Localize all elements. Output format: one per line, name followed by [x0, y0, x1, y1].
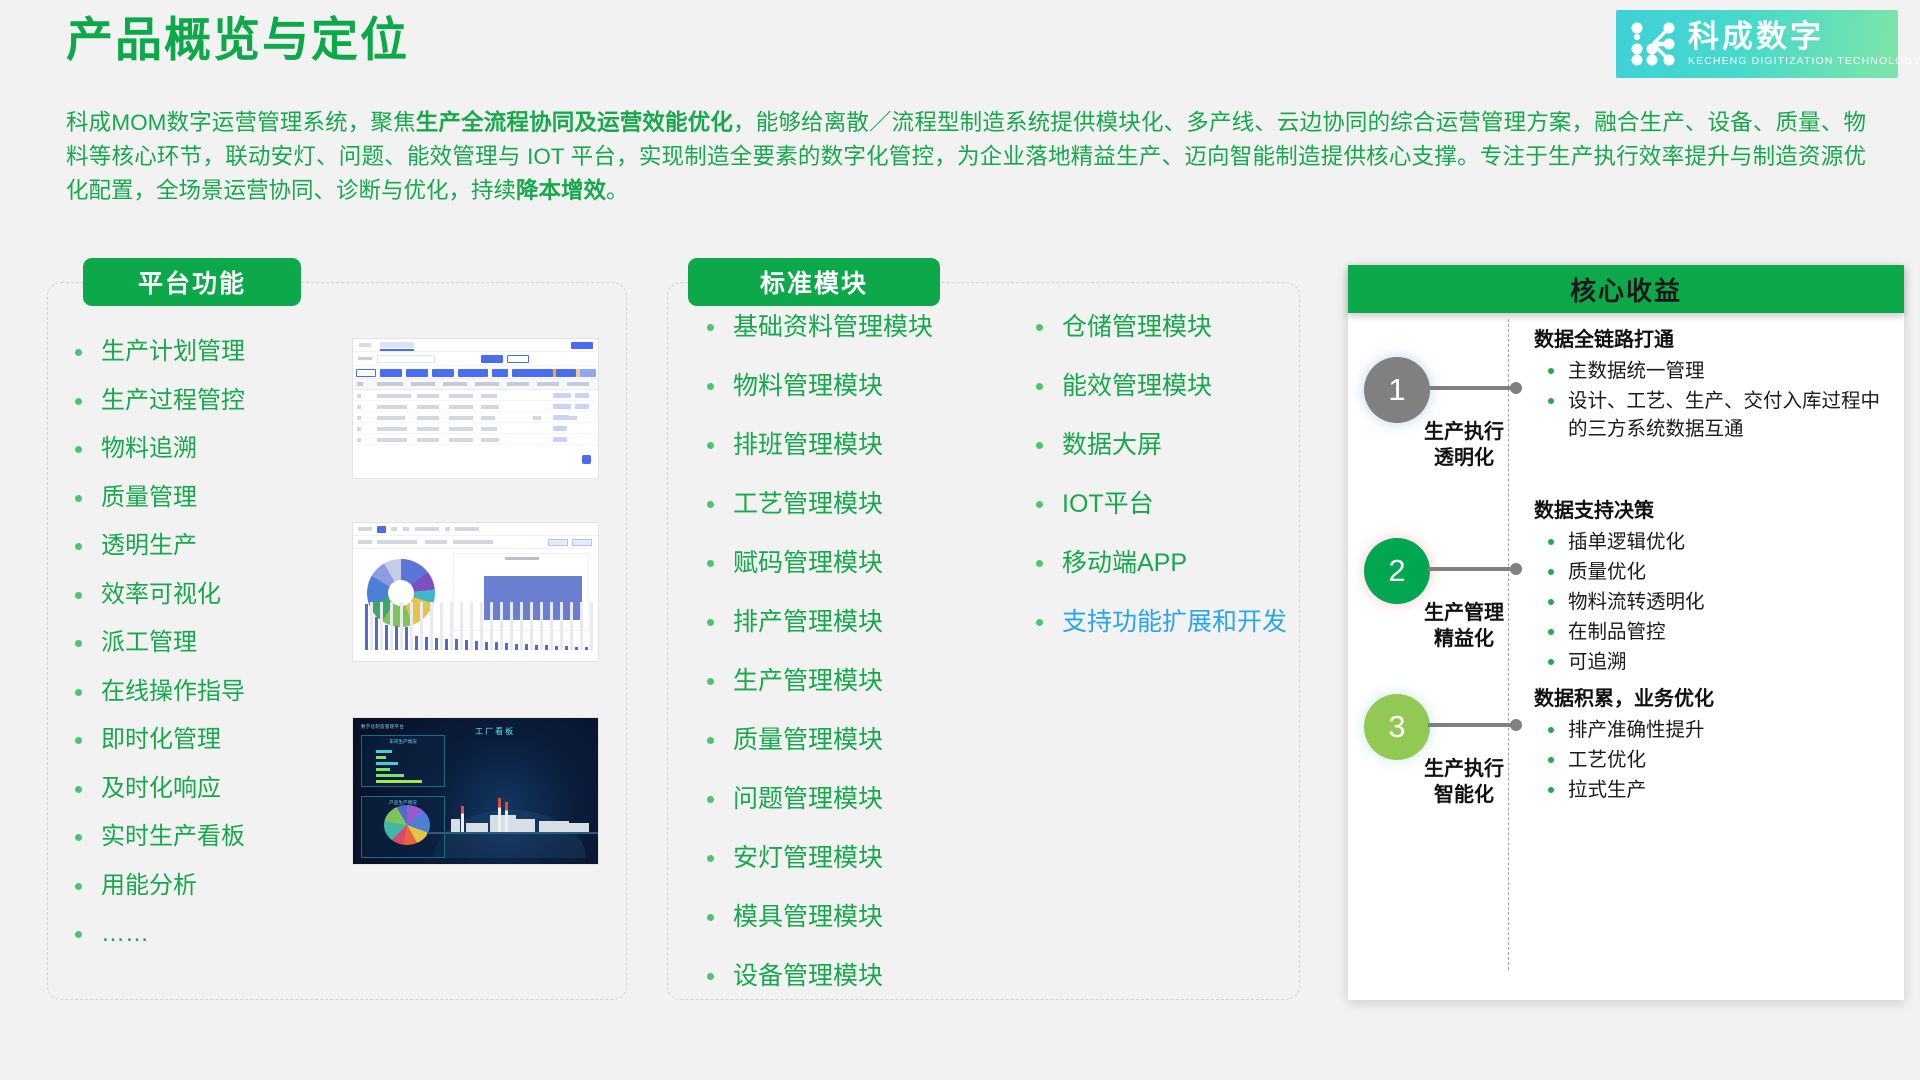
step-caption: 生产管理精益化 — [1416, 600, 1512, 652]
list-item-extension: 支持功能扩展和开发 — [1022, 608, 1287, 636]
list-item: 效率可视化 — [61, 581, 245, 609]
list-item: 工艺优化 — [1534, 746, 1884, 774]
panel-core-benefits: 核心收益 1 生产执行透明化 2 生产管理精益化 3 生产执行智能化 数据全链路… — [1348, 265, 1904, 1000]
benefit-group-title: 数据全链路打通 — [1534, 325, 1884, 355]
thumb-tab-underline — [380, 349, 414, 351]
thumb-search-button — [481, 355, 503, 363]
panel-standard-modules: 标准模块 基础资料管理模块 物料管理模块 排班管理模块 工艺管理模块 赋码管理模… — [667, 282, 1300, 1000]
table-row — [353, 401, 598, 412]
list-item: 模具管理模块 — [693, 903, 933, 931]
intro-seg-3: 。 — [606, 178, 629, 203]
list-item: 可追溯 — [1534, 648, 1884, 676]
list-item: 质量管理 — [61, 484, 245, 512]
logo-name-en: KECHENG DIGITIZATION TECHNOLOGY — [1688, 54, 1920, 68]
list-item: 数据大屏 — [1022, 431, 1287, 459]
benefit-group-list: 主数据统一管理 设计、工艺、生产、交付入库过程中的三方系统数据互通 — [1534, 357, 1884, 443]
board-title: 工厂看板 — [475, 726, 515, 737]
step-connector — [1428, 567, 1518, 571]
benefit-group-3: 数据积累，业务优化 排产准确性提升 工艺优化 拉式生产 — [1534, 684, 1884, 806]
list-item: 生产计划管理 — [61, 338, 245, 366]
thumb-topbar — [353, 339, 598, 352]
thumb-primary-button — [571, 342, 593, 349]
intro-seg-1: 科成MOM数字运营管理系统，聚焦 — [66, 110, 416, 135]
histogram-chart — [361, 641, 592, 657]
list-item: 工艺管理模块 — [693, 490, 933, 518]
list-item: 生产过程管控 — [61, 387, 245, 415]
thumb-float-button — [582, 455, 591, 464]
thumb-filter-label — [358, 357, 372, 360]
list-item: 及时化响应 — [61, 775, 245, 803]
list-item: 实时生产看板 — [61, 823, 245, 851]
list-item: 物料追溯 — [61, 435, 245, 463]
panel-modules-title: 标准模块 — [688, 258, 940, 306]
list-item: 安灯管理模块 — [693, 844, 933, 872]
list-item: 派工管理 — [61, 629, 245, 657]
intro-paragraph: 科成MOM数字运营管理系统，聚焦生产全流程协同及运营效能优化，能够给离散／流程型… — [66, 106, 1866, 208]
step-number-badge: 1 — [1364, 357, 1430, 423]
board-logo: 数字化制造管理平台 — [361, 724, 404, 730]
table-row — [353, 412, 598, 423]
list-item: 用能分析 — [61, 872, 245, 900]
step-connector — [1428, 723, 1518, 727]
list-item: 物料管理模块 — [693, 372, 933, 400]
list-item: 赋码管理模块 — [693, 549, 933, 577]
intro-strong-2: 降本增效 — [516, 178, 606, 203]
logo-mark-icon — [1628, 20, 1684, 68]
thumb-reset-button — [507, 355, 529, 363]
board-card-product: 产品生产情况 — [361, 796, 445, 858]
table-row — [353, 423, 598, 434]
list-item: 设计、工艺、生产、交付入库过程中的三方系统数据互通 — [1534, 387, 1884, 443]
list-item: 仓储管理模块 — [1022, 313, 1287, 341]
list-item: 在线操作指导 — [61, 678, 245, 706]
thumb-filter-bar — [353, 352, 598, 366]
board-card-workshop-title: 车间生产情况 — [389, 739, 417, 745]
list-item: 质量优化 — [1534, 558, 1884, 586]
list-item: 基础资料管理模块 — [693, 313, 933, 341]
step-number-badge: 2 — [1364, 538, 1430, 604]
step-caption: 生产执行智能化 — [1416, 756, 1512, 808]
factory-board-canvas: 数字化制造管理平台 工厂看板 车间生产情况 产品生产情况 — [353, 718, 598, 864]
step-number-badge: 3 — [1364, 694, 1430, 760]
list-item: 设备管理模块 — [693, 962, 933, 990]
list-item: …… — [61, 920, 245, 948]
list-item: 生产管理模块 — [693, 667, 933, 695]
screenshot-thumbnail-factory-board: 数字化制造管理平台 工厂看板 车间生产情况 产品生产情况 — [352, 717, 599, 865]
list-item: IOT平台 — [1022, 490, 1287, 518]
modules-column-left: 基础资料管理模块 物料管理模块 排班管理模块 工艺管理模块 赋码管理模块 排产管… — [693, 313, 933, 1021]
screenshot-thumbnail-table — [352, 338, 599, 479]
intro-strong-1: 生产全流程协同及运营效能优化 — [416, 110, 733, 135]
list-item: 排产准确性提升 — [1534, 716, 1884, 744]
list-item: 拉式生产 — [1534, 776, 1884, 804]
step-caption: 生产执行透明化 — [1416, 419, 1512, 471]
benefit-group-title: 数据支持决策 — [1534, 496, 1884, 526]
thumb-filter-input — [377, 355, 435, 363]
list-item: 透明生产 — [61, 532, 245, 560]
list-item: 物料流转透明化 — [1534, 588, 1884, 616]
board-pie-chart — [384, 805, 430, 845]
logo-text: 科成数字 KECHENG DIGITIZATION TECHNOLOGY — [1688, 20, 1920, 68]
list-item: 能效管理模块 — [1022, 372, 1287, 400]
list-item: 问题管理模块 — [693, 785, 933, 813]
list-item: 主数据统一管理 — [1534, 357, 1884, 385]
thumb-table-header — [353, 379, 598, 390]
screenshot-thumbnail-dashboard — [352, 522, 599, 662]
thumb-action-bar — [353, 366, 598, 379]
board-card-workshop: 车间生产情况 — [361, 735, 445, 787]
logo-name-cn: 科成数字 — [1688, 20, 1920, 54]
thumb-dash-filter-2 — [353, 536, 598, 549]
step-connector — [1428, 386, 1518, 390]
page-title: 产品概览与定位 — [66, 8, 409, 72]
benefit-group-title: 数据积累，业务优化 — [1534, 684, 1884, 714]
benefit-group-list: 插单逻辑优化 质量优化 物料流转透明化 在制品管控 可追溯 — [1534, 528, 1884, 676]
list-item: 插单逻辑优化 — [1534, 528, 1884, 556]
table-row — [353, 434, 598, 445]
company-logo: 科成数字 KECHENG DIGITIZATION TECHNOLOGY — [1616, 10, 1898, 78]
list-item: 排产管理模块 — [693, 608, 933, 636]
benefits-body: 1 生产执行透明化 2 生产管理精益化 3 生产执行智能化 数据全链路打通 主数… — [1348, 313, 1904, 1000]
thumb-dash-filter-1 — [353, 523, 598, 536]
benefits-header-title: 核心收益 — [1348, 265, 1904, 313]
list-item: 排班管理模块 — [693, 431, 933, 459]
slide-root: 产品概览与定位 科成数字 KECHENG DIGITIZATION TECHNO… — [0, 0, 1920, 1080]
modules-column-right: 仓储管理模块 能效管理模块 数据大屏 IOT平台 移动端APP 支持功能扩展和开… — [1022, 313, 1287, 667]
list-item: 质量管理模块 — [693, 726, 933, 754]
thumb-tab — [380, 342, 414, 348]
table-row — [353, 390, 598, 401]
benefit-group-1: 数据全链路打通 主数据统一管理 设计、工艺、生产、交付入库过程中的三方系统数据互… — [1534, 325, 1884, 445]
list-item: 在制品管控 — [1534, 618, 1884, 646]
list-item: 移动端APP — [1022, 549, 1287, 577]
panel-platform-title: 平台功能 — [83, 258, 301, 306]
list-item: 即时化管理 — [61, 726, 245, 754]
platform-function-list: 生产计划管理 生产过程管控 物料追溯 质量管理 透明生产 效率可视化 派工管理 … — [61, 338, 245, 969]
benefit-group-2: 数据支持决策 插单逻辑优化 质量优化 物料流转透明化 在制品管控 可追溯 — [1534, 496, 1884, 678]
benefit-group-list: 排产准确性提升 工艺优化 拉式生产 — [1534, 716, 1884, 804]
board-ground-line — [427, 832, 599, 834]
thumb-breadcrumb — [359, 343, 371, 347]
